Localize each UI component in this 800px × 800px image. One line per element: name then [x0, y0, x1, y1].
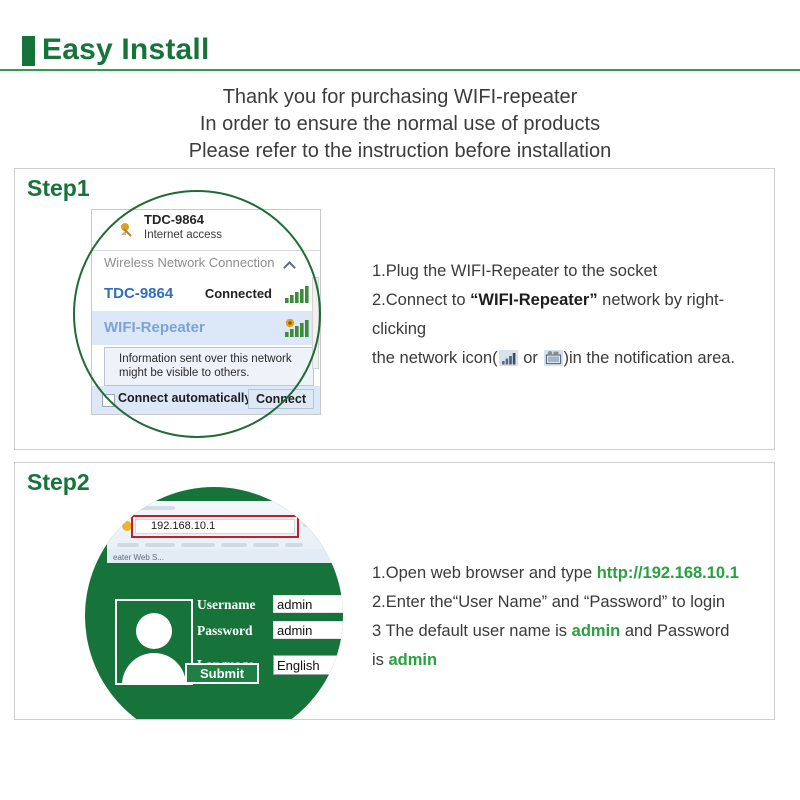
easy-install-page: Easy Install Thank you for purchasing WI… — [0, 0, 800, 800]
username-label: Username — [197, 597, 269, 613]
language-select[interactable]: English — [273, 655, 343, 675]
header-divider — [0, 69, 800, 71]
browser-go-ghost — [303, 523, 343, 527]
step2-highlight-circle: 192.168.10.1 eater Web S... Username adm… — [85, 487, 343, 720]
step2-illustration: 192.168.10.1 eater Web S... Username adm… — [71, 477, 371, 720]
step2-instruction-3-prefix: 3 The default user name is — [372, 622, 572, 640]
step2-instruction-3-suffix: and Password — [620, 622, 729, 640]
step2-instructions: 1.Open web browser and type http://192.1… — [372, 559, 775, 675]
step1-highlight-circle — [73, 190, 321, 438]
step1-instruction-2-prefix: 2.Connect to — [372, 291, 470, 309]
router-url: http://192.168.10.1 — [597, 564, 739, 582]
address-bar-highlight — [131, 515, 299, 538]
step1-panel: Step1 TDC-9864 Internet access Wire — [14, 168, 775, 450]
avatar-head-icon — [136, 613, 172, 649]
intro-line-1: Thank you for purchasing WIFI-repeater — [0, 84, 800, 111]
step1-instruction-1: 1.Plug the WIFI-Repeater to the socket — [372, 257, 775, 286]
password-input[interactable]: admin — [273, 621, 343, 639]
default-password-value: admin — [389, 651, 438, 669]
network-computer-icon — [544, 347, 563, 363]
browser-tab-title: eater Web S... — [113, 553, 164, 562]
browser-toolbar-ghost-3 — [181, 543, 215, 547]
step1-instruction-icon-prefix: the network icon( — [372, 349, 498, 367]
page-title: Easy Install — [42, 28, 210, 72]
step1-instruction-2: 2.Connect to “WIFI-Repeater” network by … — [372, 286, 775, 344]
header-bullet-icon — [22, 36, 35, 66]
step2-instruction-1: 1.Open web browser and type http://192.1… — [372, 559, 775, 588]
step2-instruction-3-cont: is admin — [372, 646, 775, 675]
page-header: Easy Install — [0, 28, 800, 72]
avatar-body-icon — [122, 653, 186, 685]
username-row: Username admin — [197, 595, 343, 617]
browser-toolbar-ghost-5 — [253, 543, 279, 547]
step2-instruction-1-prefix: 1.Open web browser and type — [372, 564, 597, 582]
default-username-value: admin — [572, 622, 621, 640]
step1-instruction-or: or — [519, 349, 543, 367]
step1-instruction-2-cont: the network icon( or )in the notificatio… — [372, 344, 775, 373]
step2-instruction-2: 2.Enter the“User Name” and “Password” to… — [372, 588, 775, 617]
submit-button[interactable]: Submit — [185, 663, 259, 684]
password-label: Password — [197, 623, 269, 639]
step1-instruction-icon-suffix: )in the notification area. — [564, 349, 736, 367]
browser-toolbar-ghost-2 — [145, 543, 175, 547]
intro-line-3: Please refer to the instruction before i… — [0, 138, 800, 165]
avatar — [115, 599, 193, 685]
signal-bars-icon — [499, 347, 518, 363]
step2-panel: Step2 192.168.10.1 — [14, 462, 775, 720]
browser-menu-ghost — [133, 506, 175, 510]
step1-instructions: 1.Plug the WIFI-Repeater to the socket 2… — [372, 257, 775, 373]
intro-text: Thank you for purchasing WIFI-repeater I… — [0, 84, 800, 165]
browser-toolbar-ghost-4 — [221, 543, 247, 547]
step1-instruction-2-quoted: “WIFI-Repeater” — [470, 291, 597, 309]
browser-toolbar-ghost-6 — [285, 543, 303, 547]
browser-chrome: 192.168.10.1 eater Web S... — [107, 501, 343, 563]
step2-instruction-3: 3 The default user name is admin and Pas… — [372, 617, 775, 646]
intro-line-2: In order to ensure the normal use of pro… — [0, 111, 800, 138]
username-input[interactable]: admin — [273, 595, 343, 613]
language-select-value: English — [277, 658, 320, 673]
browser-tab-strip[interactable]: eater Web S... — [107, 549, 343, 563]
browser-toolbar-ghost-1 — [117, 543, 139, 547]
step2-instruction-3-is: is — [372, 651, 389, 669]
step1-illustration: TDC-9864 Internet access Wireless Networ… — [73, 187, 335, 437]
password-row: Password admin — [197, 621, 343, 643]
